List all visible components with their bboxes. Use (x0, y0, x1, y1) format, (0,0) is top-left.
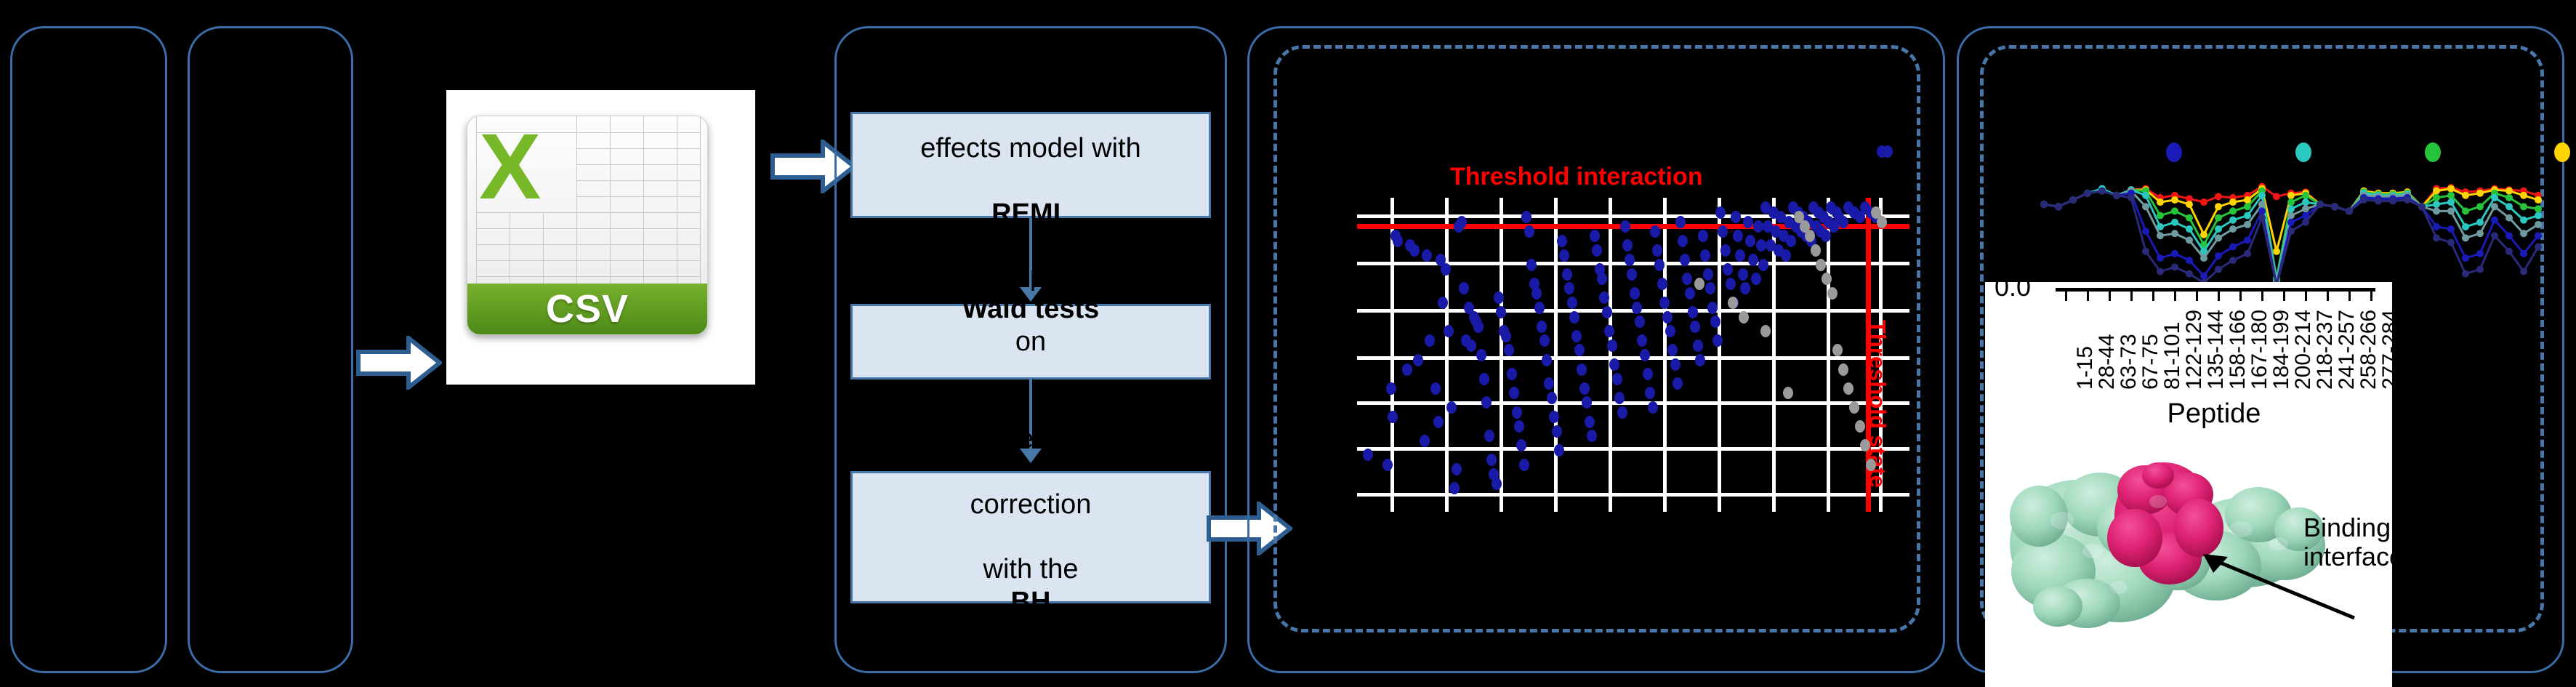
scatter-dot (1703, 268, 1713, 281)
arrow-input-to-csv (356, 336, 442, 390)
scatter-dot (1690, 321, 1700, 333)
scatter-dot (1393, 235, 1403, 247)
peptide-tick-label: 200-214 (2291, 310, 2316, 390)
line-point (2447, 225, 2455, 233)
peptide-axis-tick (2065, 291, 2067, 301)
step3-bold: BH (1011, 587, 1051, 617)
line-point (2258, 192, 2266, 199)
line-point (2244, 250, 2251, 257)
scatter-dot (1739, 311, 1749, 324)
step3-line3-pre: with the (934, 553, 1127, 586)
scatter-dot (1539, 334, 1550, 347)
step1-line2: effects model with (916, 132, 1145, 165)
line-point (2244, 236, 2251, 244)
csv-icon-tile: X CSV (467, 116, 708, 335)
scatter-dot (1650, 225, 1660, 238)
scatter-plot: Threshold interaction Threshold state (1341, 145, 1923, 523)
scatter-dot (1678, 235, 1688, 247)
line-point (2433, 201, 2440, 208)
scatter-dot (1599, 292, 1609, 304)
scatter-dot (1783, 387, 1793, 399)
scatter-dot (1585, 416, 1595, 428)
peptide-tick-label: 81-101 (2160, 322, 2185, 390)
scatter-dot (1516, 439, 1526, 451)
scatter-dot (1484, 430, 1494, 442)
peptide-tick-label: 122-129 (2182, 310, 2207, 390)
scatter-dot (1422, 249, 1432, 262)
binding-interface-label: Binding interface (2303, 513, 2392, 572)
line-point (2302, 192, 2309, 199)
step3-line1: Multiple testing (934, 423, 1127, 456)
line-point (2273, 193, 2280, 200)
scatter-dot (1547, 392, 1557, 404)
scatter-dot (1430, 382, 1441, 395)
line-point (2200, 198, 2207, 206)
scatter-dot (1866, 459, 1876, 471)
scatter-dot (1682, 273, 1692, 285)
step2-line1-post: on (892, 326, 1170, 358)
scatter-dot (1582, 396, 1592, 409)
line-point (2476, 190, 2484, 197)
line-point (2171, 196, 2178, 204)
peptide-tick-label: 167-180 (2247, 310, 2272, 390)
line-point (2360, 196, 2367, 204)
peptide-tick-label: 184-199 (2269, 310, 2294, 390)
scatter-dot (1457, 216, 1467, 228)
scatter-dot (1743, 216, 1753, 228)
line-point (2433, 188, 2440, 195)
peptide-tick-label: 258-266 (2356, 310, 2381, 390)
line-point (2520, 230, 2527, 237)
scatter-dot (1723, 263, 1733, 276)
scatter-dot (1388, 411, 1398, 423)
line-point (2389, 198, 2396, 205)
line-point (2302, 198, 2309, 206)
step-box-bh-correction[interactable]: Multiple testing correction with the BH … (850, 471, 1211, 603)
line-point (2520, 217, 2527, 224)
line-point (2331, 203, 2338, 210)
scatter-dot (1738, 268, 1748, 281)
line-point (2171, 250, 2178, 257)
line-point (2215, 252, 2222, 260)
scatter-dot (1564, 282, 1574, 294)
scatter-dot (1537, 321, 1547, 333)
scatter-dot (1544, 377, 1554, 390)
scatter-dot (1705, 282, 1715, 294)
scatter-dot (1662, 311, 1673, 324)
line-point (2346, 207, 2353, 214)
scatter-dot (1877, 216, 1887, 228)
scatter-dot (1521, 211, 1531, 223)
scatter-dot (1781, 249, 1791, 262)
scatter-dot (1627, 268, 1637, 281)
line-point (2447, 192, 2455, 199)
line-point (2491, 203, 2498, 210)
line-point (2505, 232, 2513, 239)
scatter-dot (1452, 463, 1462, 475)
scatter-dot (1409, 244, 1420, 257)
peptide-axis-title: Peptide (2094, 398, 2334, 430)
line-point (2520, 268, 2527, 276)
line-point (2258, 207, 2266, 214)
scatter-dot (1577, 363, 1587, 376)
line-point (2113, 192, 2120, 199)
scatter-dot (1441, 263, 1451, 276)
scatter-dot (1607, 340, 1617, 352)
scatter-dot (1449, 482, 1460, 494)
step-box-wald-tests[interactable]: Apply Wald tests on the model parameters (850, 304, 1211, 379)
scatter-dot (1648, 401, 1658, 414)
scatter-dot (1479, 373, 1489, 385)
scatter-dot (1640, 349, 1650, 361)
scatter-dot (1685, 287, 1695, 300)
peptide-axis-tick (2348, 291, 2351, 301)
scatter-dot (1507, 368, 1517, 380)
line-point (2520, 192, 2527, 199)
step2-line1-pre: Apply (892, 260, 1170, 293)
scatter-dot (1718, 225, 1728, 238)
scatter-dot (1531, 287, 1542, 300)
scatter-dot (1760, 325, 1771, 337)
scatter-dot (1753, 220, 1763, 233)
scatter-dot (1386, 382, 1396, 395)
line-point (2505, 194, 2513, 201)
line-point (2476, 230, 2484, 237)
scatter-dot (1587, 430, 1597, 442)
line-point (2462, 192, 2469, 199)
scatter-dot (1496, 306, 1506, 318)
line-point (2157, 232, 2164, 239)
line-point (2229, 244, 2237, 251)
line-point (2535, 221, 2542, 228)
peptide-axis-card: 0.0 1-1528-4463-7367-7581-101122-129135-… (1985, 282, 2392, 687)
line-point (2287, 205, 2295, 212)
scatter-dot (1609, 358, 1619, 371)
scatter-dot (1838, 216, 1848, 228)
line-point (2142, 228, 2149, 235)
line-point (2229, 257, 2237, 264)
scatter-dot (1446, 401, 1457, 414)
scatter-dot (1822, 273, 1832, 285)
scatter-dot (1883, 145, 1893, 158)
peptide-tick-label: 135-144 (2204, 310, 2229, 390)
scatter-dot (1526, 259, 1537, 271)
line-point (2491, 217, 2498, 224)
scatter-dot (1592, 244, 1602, 257)
peptide-axis-tick (2370, 291, 2372, 301)
peptide-axis-tick (2327, 291, 2329, 301)
scatter-dot (1622, 239, 1633, 252)
line-point (2157, 254, 2164, 262)
line-point (2229, 207, 2237, 214)
scatter-dot (1567, 297, 1577, 309)
scatter-dot (1786, 235, 1796, 247)
scatter-dot (1665, 325, 1675, 337)
scatter-dot (1549, 411, 1559, 423)
line-point (2520, 203, 2527, 210)
line-point (2505, 188, 2513, 195)
scatter-dot (1562, 268, 1572, 281)
step-box-fit-model[interactable]: Fit a linear mixed- effects model with R… (850, 112, 1211, 218)
panel-input (10, 26, 167, 673)
legend-dot-2 (2425, 142, 2441, 162)
scatter-dot (1740, 282, 1750, 294)
line-point (2287, 192, 2295, 199)
binding-label-line1: Binding (2303, 513, 2392, 542)
scatter-dot (1698, 230, 1708, 242)
line-point (2462, 270, 2469, 278)
line-point (2476, 265, 2484, 273)
scatter-dot (1751, 273, 1761, 285)
peptide-axis-tick (2196, 291, 2198, 301)
scatter-dot (1509, 387, 1519, 399)
line-point (2317, 201, 2324, 208)
line-point (2505, 248, 2513, 255)
line-point (2142, 248, 2149, 255)
peptide-tick-label: 158-166 (2226, 310, 2250, 390)
scatter-dot (1534, 302, 1545, 314)
scatter-dot (1433, 416, 1444, 428)
scatter-dot (1710, 316, 1720, 328)
line-point (2476, 219, 2484, 226)
scatter-dot (1745, 235, 1755, 247)
line-point (2433, 194, 2440, 201)
line-point (2447, 198, 2455, 206)
step1-line1: Fit a linear mixed- (916, 68, 1145, 100)
scatter-dot (1816, 259, 1826, 271)
scatter-dot (1413, 354, 1423, 366)
scatter-dot (1612, 373, 1622, 385)
line-point (2462, 223, 2469, 230)
scatter-dot (1855, 420, 1865, 433)
scatter-dot (1542, 354, 1552, 366)
scatter-dot (1635, 316, 1645, 328)
scatter-dot (1645, 387, 1655, 399)
scatter-dot (1652, 244, 1662, 257)
scatter-dot (1519, 459, 1529, 471)
line-point (2244, 221, 2251, 228)
line-point (2229, 225, 2237, 233)
step3-line2: correction (934, 489, 1127, 521)
scatter-dot (1688, 306, 1698, 318)
line-point (2491, 232, 2498, 239)
peptide-axis-tick (2109, 291, 2111, 301)
scatter-dot (1569, 311, 1579, 324)
line-point (2505, 214, 2513, 222)
line-point (2302, 219, 2309, 226)
scatter-dot (1637, 334, 1647, 347)
step3-line3-post: procedure (934, 619, 1127, 651)
peptide-axis-tick (2130, 291, 2133, 301)
panel-csv-data (188, 26, 353, 673)
scatter-dot (1843, 382, 1853, 395)
scatter-dot (1604, 325, 1614, 337)
legend-dot-1 (2295, 142, 2311, 162)
line-point (2244, 203, 2251, 210)
scatter-dot (1382, 459, 1393, 471)
line-point (2055, 203, 2062, 210)
legend-dot-3 (2554, 142, 2570, 162)
line-point (2302, 205, 2309, 212)
scatter-dot (1700, 249, 1710, 262)
scatter-dot (1849, 401, 1859, 414)
scatter-dot (1559, 249, 1569, 262)
scatter-dot (1695, 354, 1705, 366)
scatter-dot (1481, 396, 1492, 409)
peptide-tick-label: 241-257 (2335, 310, 2359, 390)
scatter-dot (1363, 449, 1373, 461)
line-point (2418, 203, 2426, 210)
scatter-dot (1632, 302, 1642, 314)
line-point (2142, 203, 2149, 210)
scatter-dot (1590, 230, 1600, 242)
scatter-dot (1473, 321, 1484, 333)
line-point (2215, 265, 2222, 273)
scatter-dot (1712, 334, 1723, 347)
csv-label: CSV (546, 286, 629, 332)
scatter-dot (1728, 297, 1738, 309)
line-point (2171, 230, 2178, 237)
line-point (2287, 198, 2295, 206)
scatter-dot (1694, 278, 1704, 290)
scatter-dot (1557, 235, 1567, 247)
peptide-axis-tick (2174, 291, 2176, 301)
line-point (2462, 234, 2469, 241)
scatter-dot (1501, 330, 1511, 342)
scatter-dot (1466, 340, 1476, 352)
scatter-dot (1860, 439, 1870, 451)
line-point (2375, 198, 2382, 205)
line-point (2186, 236, 2193, 244)
scatter-dot (1552, 425, 1562, 438)
scatter-dot (1620, 220, 1630, 233)
line-point (2244, 212, 2251, 220)
line-point (2200, 273, 2207, 280)
peptide-line-chart (2000, 131, 2553, 287)
csv-file-icon: X CSV (446, 90, 755, 385)
scatter-dot (1811, 244, 1821, 257)
scatter-dot (1675, 216, 1686, 228)
scatter-dot (1476, 349, 1486, 361)
scatter-dot (1720, 244, 1731, 257)
line-point (2084, 190, 2091, 197)
line-point (2171, 219, 2178, 226)
scatter-dot (1524, 225, 1534, 238)
scatter-dot (1597, 273, 1607, 285)
scatter-dot (1614, 392, 1625, 404)
scatter-dot (1758, 259, 1768, 271)
line-point (2040, 201, 2048, 208)
scatter-dot (1486, 454, 1497, 466)
scatter-dot (1735, 249, 1745, 262)
line-chart-legend (2000, 131, 2553, 174)
peptide-tick-label: 218-237 (2313, 310, 2338, 390)
peptide-tick-label: 28-44 (2095, 334, 2120, 390)
scatter-dot (1659, 297, 1670, 309)
peptide-tick-label: 277-284 (2378, 310, 2392, 390)
peptide-axis-tick (2239, 291, 2242, 301)
scatter-points-layer (1341, 145, 1923, 523)
scatter-dot (1657, 278, 1667, 290)
scatter-dot (1733, 230, 1743, 242)
step2-bold: Wald tests (962, 294, 1100, 324)
line-point (2491, 194, 2498, 201)
line-point (2186, 257, 2193, 264)
scatter-dot (1574, 344, 1585, 356)
scatter-dot (1643, 368, 1653, 380)
line-point (2186, 270, 2193, 278)
line-point (2215, 214, 2222, 222)
line-point (2215, 203, 2222, 210)
line-point (2215, 225, 2222, 233)
scatter-dot (1726, 278, 1736, 290)
line-point (2462, 207, 2469, 214)
line-point (2200, 231, 2207, 238)
scatter-dot (1731, 211, 1741, 223)
scatter-dot (1602, 306, 1612, 318)
line-point (2505, 203, 2513, 210)
peptide-tick-label: 63-73 (2117, 334, 2141, 390)
scatter-dot (1680, 254, 1690, 266)
scatter-dot (1821, 230, 1831, 242)
line-point (2433, 234, 2440, 241)
line-point (2128, 194, 2135, 201)
scatter-dot (1504, 344, 1514, 356)
peptide-axis-tick (2283, 291, 2285, 301)
line-point (2433, 207, 2440, 214)
line-point (2462, 254, 2469, 262)
line-point (2258, 214, 2266, 222)
line-point (2535, 205, 2542, 212)
line-point (2142, 192, 2149, 199)
line-point (2447, 185, 2455, 193)
scatter-dot (1571, 330, 1582, 342)
legend-dot-0 (2166, 142, 2182, 162)
line-point (2433, 223, 2440, 230)
line-point (2215, 234, 2222, 241)
peptide-tick-label: 67-75 (2138, 334, 2163, 390)
scatter-dot (1459, 282, 1469, 294)
scatter-dot (1670, 358, 1681, 371)
peptide-axis-tick (2087, 291, 2089, 301)
scatter-dot (1554, 444, 1564, 457)
scatter-dot (1438, 297, 1448, 309)
scatter-dot (1402, 363, 1412, 376)
scatter-dot (1579, 382, 1590, 395)
line-point (2258, 201, 2266, 208)
line-point (2186, 225, 2193, 233)
scatter-dot (1425, 334, 1435, 347)
line-point (2273, 248, 2280, 255)
line-point (2476, 203, 2484, 210)
csv-band: CSV (467, 284, 707, 334)
line-point (2535, 244, 2542, 251)
scatter-dot (1420, 435, 1430, 447)
peptide-axis-tick (2218, 291, 2220, 301)
line-point (2229, 198, 2237, 206)
peptide-axis-tick (2305, 291, 2307, 301)
line-point (2287, 212, 2295, 220)
scatter-dot (1654, 259, 1665, 271)
scatter-dot (1756, 239, 1766, 252)
scatter-dot (1673, 377, 1683, 390)
line-point (2404, 196, 2411, 204)
line-point (2535, 212, 2542, 220)
line-point (2535, 196, 2542, 204)
line-point (2171, 207, 2178, 214)
scatter-dot (1748, 254, 1758, 266)
peptide-axis-tick (2152, 291, 2154, 301)
